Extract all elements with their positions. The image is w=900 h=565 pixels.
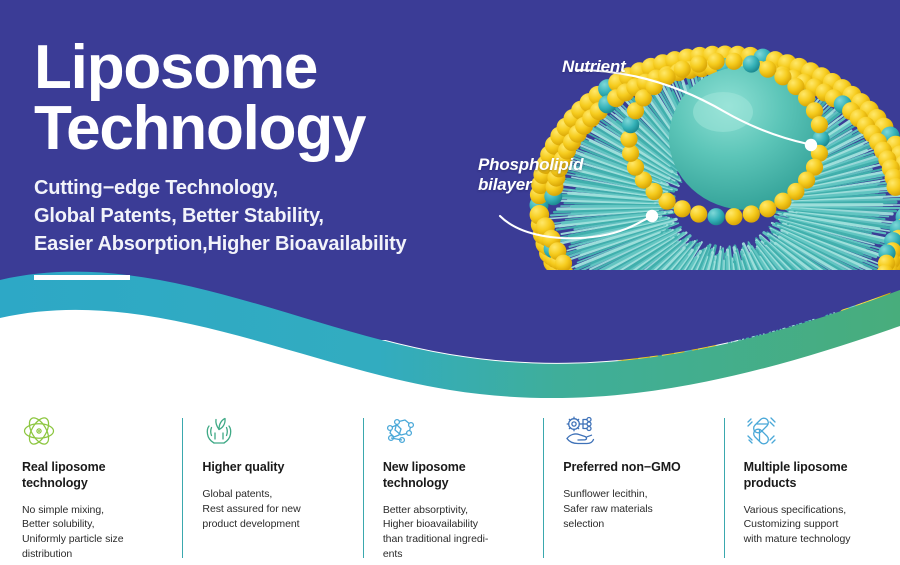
feature-title: New liposome technology: [383, 460, 529, 492]
feature-card-real-liposome-technology: Real liposome technology No simple mixin…: [0, 408, 182, 565]
bilayer-leader-line: [500, 216, 648, 238]
page-title: Liposome Technology: [34, 38, 504, 160]
molecule-structure-icon: [383, 414, 417, 448]
feature-title: Real liposome technology: [22, 460, 168, 492]
feature-card-preferred-non-gmo: Preferred non−GMO Sunflower lecithin, Sa…: [543, 408, 723, 565]
page-title-line2: Technology: [34, 94, 365, 163]
feature-body: Sunflower lecithin, Safer raw materials …: [563, 487, 709, 532]
bilayer-leader-dot: [646, 210, 658, 222]
hero-subtitle-line1: Cutting−edge Technology,: [34, 177, 278, 199]
feature-body: Various specifications, Customizing supp…: [744, 503, 890, 548]
liposome-technology-banner: Nutrient Phospholipid bilayer Liposome T…: [0, 0, 900, 565]
atom-icon: [22, 414, 56, 448]
hero-subtitle-line2: Global Patents, Better Stability,: [34, 205, 324, 227]
callout-label-nutrient: Nutrient: [562, 57, 626, 77]
nutrient-leader-line: [577, 70, 808, 144]
hand-holding-gear-icon: [563, 414, 597, 448]
feature-body: Better absorptivity, Higher bioavailabil…: [383, 503, 529, 563]
crossed-softgel-capsules-icon: [744, 414, 778, 448]
nutrient-leader-dot: [805, 139, 817, 151]
page-title-line1: Liposome: [34, 33, 317, 102]
hero-text-block: Liposome Technology Cutting−edge Technol…: [34, 38, 504, 280]
feature-body: Global patents, Rest assured for new pro…: [202, 487, 348, 532]
feature-title: Higher quality: [202, 460, 348, 476]
feature-title: Preferred non−GMO: [563, 460, 709, 476]
wave-divider: [0, 270, 900, 405]
feature-body: No simple mixing, Better solubility, Uni…: [22, 503, 168, 563]
hero-subtitle-line3: Easier Absorption,Higher Bioavailability: [34, 233, 406, 255]
feature-strip: Real liposome technology No simple mixin…: [0, 408, 900, 565]
hands-holding-leaf-icon: [202, 414, 236, 448]
hero-subtitle: Cutting−edge Technology, Global Patents,…: [34, 174, 504, 259]
feature-card-multiple-liposome-products: Multiple liposome products Various speci…: [724, 408, 900, 565]
feature-card-higher-quality: Higher quality Global patents, Rest assu…: [182, 408, 362, 565]
hero-accent-rule: [34, 275, 130, 280]
feature-card-new-liposome-technology: New liposome technology Better absorptiv…: [363, 408, 543, 565]
callout-nutrient-text: Nutrient: [562, 57, 626, 76]
feature-title: Multiple liposome products: [744, 460, 890, 492]
